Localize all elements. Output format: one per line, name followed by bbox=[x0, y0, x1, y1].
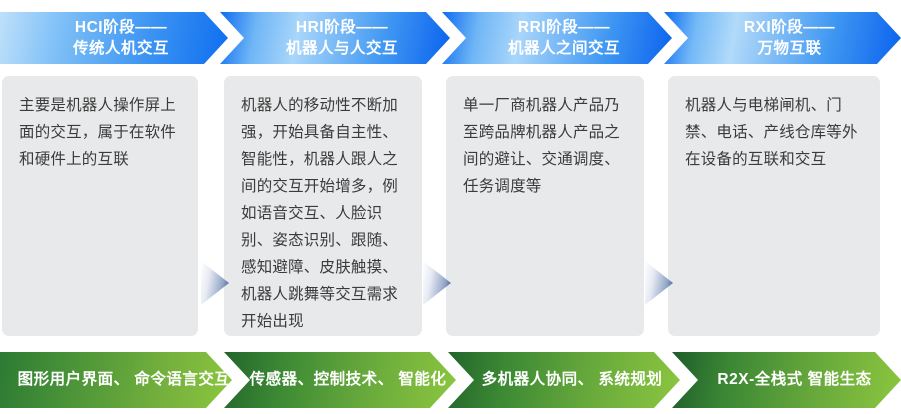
stage-footer-rxi[interactable]: R2X-全栈式 智能生态 bbox=[672, 352, 901, 408]
stage-footer-rxi-line1: R2X-全栈式 bbox=[717, 371, 802, 388]
stage-header-rri-line1: RRI阶段—— bbox=[508, 17, 620, 38]
stage-header-rxi-line2: 万物互联 bbox=[744, 38, 835, 59]
stage-footer-hri[interactable]: 传感器、控制技术、 智能化 bbox=[224, 352, 456, 408]
stage-header-row: HCI阶段—— 传统人机交互 HRI阶段—— 机器人与人交互 RRI阶段—— 机… bbox=[0, 12, 901, 64]
stage-footer-rri-line1: 多机器人协同、 bbox=[482, 371, 594, 388]
stage-footer-hci-line1: 图形用户界面、 bbox=[18, 371, 130, 388]
stage-body-rri: 单一厂商机器人产品乃至跨品牌机器人产品之间的避让、交通调度、任务调度等 bbox=[446, 76, 644, 336]
stage-header-rxi-line1: RXI阶段—— bbox=[744, 17, 835, 38]
stage-header-hri-line2: 机器人与人交互 bbox=[286, 38, 398, 59]
stage-footer-row: 图形用户界面、 命令语言交互 传感器、控制技术、 智能化 多机器人协同、 系统规… bbox=[0, 352, 901, 408]
stage-footer-rxi-line2: 智能生态 bbox=[808, 371, 872, 388]
stage-footer-hci[interactable]: 图形用户界面、 命令语言交互 bbox=[0, 352, 232, 408]
stage-body-hri: 机器人的移动性不断加强，开始具备自主性、智能性，机器人跟人之间的交互开始增多，例… bbox=[224, 76, 422, 336]
stage-body-rxi: 机器人与电梯闸机、门禁、电话、产线仓库等外在设备的互联和交互 bbox=[668, 76, 880, 336]
stage-header-rri-line2: 机器人之间交互 bbox=[508, 38, 620, 59]
stage-header-rxi[interactable]: RXI阶段—— 万物互联 bbox=[664, 12, 901, 64]
stage-header-hri[interactable]: HRI阶段—— 机器人与人交互 bbox=[220, 12, 450, 64]
stage-header-hci[interactable]: HCI阶段—— 传统人机交互 bbox=[0, 12, 228, 64]
stage-header-hci-line2: 传统人机交互 bbox=[73, 38, 169, 59]
stage-footer-rri[interactable]: 多机器人协同、 系统规划 bbox=[448, 352, 680, 408]
stage-body-row: 主要是机器人操作屏上面的交互，属于在软件和硬件上的互联 机器人的移动性不断加强，… bbox=[0, 76, 901, 338]
stage-footer-hri-line1: 传感器、控制技术、 bbox=[250, 371, 394, 388]
stage-footer-hri-line2: 智能化 bbox=[398, 371, 446, 388]
stage-footer-hci-line2: 命令语言交互 bbox=[134, 371, 230, 388]
stage-header-hci-line1: HCI阶段—— bbox=[73, 17, 169, 38]
stage-header-rri[interactable]: RRI阶段—— 机器人之间交互 bbox=[442, 12, 672, 64]
stage-body-hci: 主要是机器人操作屏上面的交互，属于在软件和硬件上的互联 bbox=[2, 76, 198, 336]
stage-header-hri-line1: HRI阶段—— bbox=[286, 17, 398, 38]
stage-footer-rri-line2: 系统规划 bbox=[598, 371, 662, 388]
